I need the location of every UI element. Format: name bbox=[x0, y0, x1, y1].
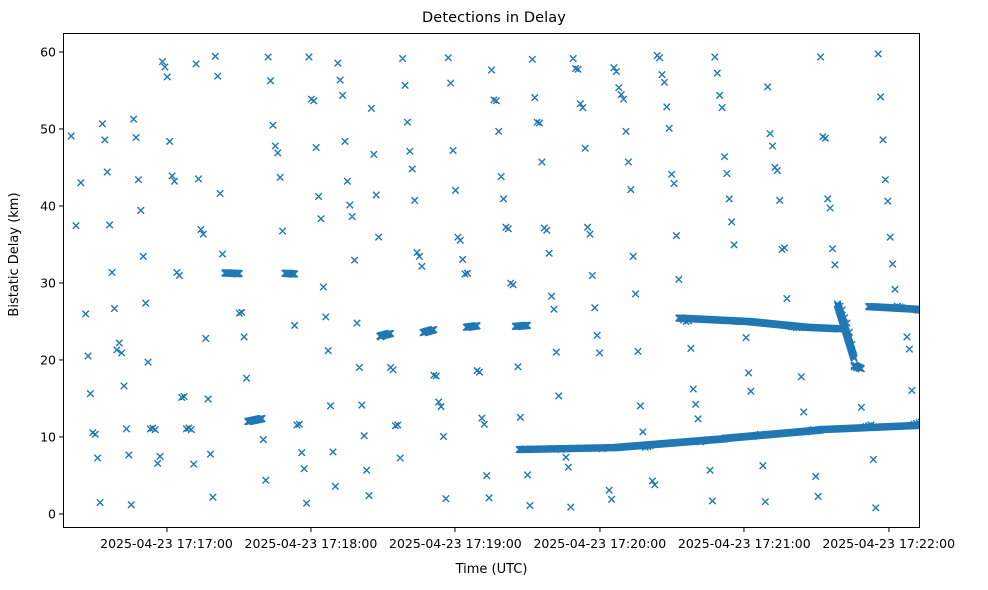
y-tick-mark bbox=[59, 206, 63, 207]
x-tick-mark bbox=[455, 528, 456, 532]
x-axis-label: Time (UTC) bbox=[63, 562, 920, 577]
y-tick-label: 0 bbox=[4, 507, 56, 522]
y-axis-label: Bistatic Delay (km) bbox=[7, 7, 22, 502]
plot-axes bbox=[63, 33, 920, 528]
y-tick-mark bbox=[59, 437, 63, 438]
x-tick-mark bbox=[744, 528, 745, 532]
x-tick-label: 2025-04-23 17:17:00 bbox=[100, 536, 233, 551]
x-tick-label: 2025-04-23 17:18:00 bbox=[245, 536, 378, 551]
marker-group bbox=[68, 51, 919, 511]
x-tick-label: 2025-04-23 17:22:00 bbox=[822, 536, 955, 551]
x-tick-label: 2025-04-23 17:21:00 bbox=[678, 536, 811, 551]
y-tick-mark bbox=[59, 360, 63, 361]
x-tick-mark bbox=[888, 528, 889, 532]
y-tick-mark bbox=[59, 52, 63, 53]
chart-title: Detections in Delay bbox=[0, 10, 988, 26]
y-tick-mark bbox=[59, 514, 63, 515]
y-tick-mark bbox=[59, 283, 63, 284]
scatter-layer bbox=[64, 34, 919, 527]
x-tick-label: 2025-04-23 17:19:00 bbox=[389, 536, 522, 551]
x-tick-mark bbox=[310, 528, 311, 532]
y-tick-mark bbox=[59, 129, 63, 130]
matplotlib-figure: Detections in Delay 0102030405060 Bistat… bbox=[0, 0, 988, 590]
x-tick-mark bbox=[166, 528, 167, 532]
x-tick-label: 2025-04-23 17:20:00 bbox=[533, 536, 666, 551]
x-tick-mark bbox=[599, 528, 600, 532]
